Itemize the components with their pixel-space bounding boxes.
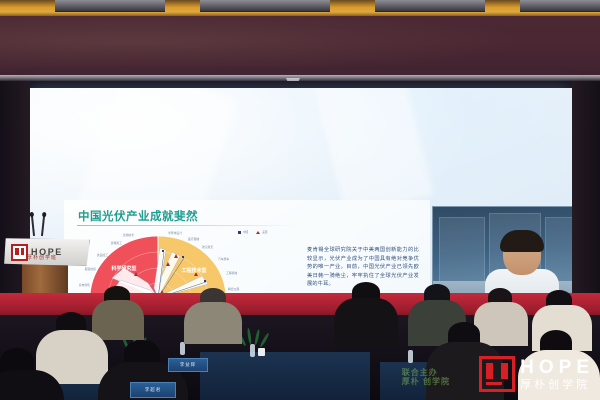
tea-cup [258,348,265,356]
radar-chart: 科学研究型 工程技术型 用户中心型 效率驱动型 生物技术 半导体设计 医疗器械 … [76,228,296,294]
head-table [200,352,370,400]
triangle-marker-icon [256,231,260,234]
speaker-hair [500,230,544,252]
slide-title: 中国光伏产业成就斐然 [78,208,198,224]
svg-text:建筑施工: 建筑施工 [111,241,122,245]
watermark-text: HOPE 厚朴创学院 [520,358,594,391]
watermark-brand-cn: 厚朴创学院 [520,380,594,391]
seal-bar [486,382,502,385]
svg-text:生物技术: 生物技术 [123,233,134,237]
audience-body [334,298,398,348]
audience-body [92,300,144,340]
svg-text:工程机械: 工程机械 [226,271,237,275]
square-marker-icon [238,231,241,234]
sponsor-ghost-text: 联合主办厚朴 创学院 [402,368,450,386]
quadrant-label: 工程技术型 [181,267,206,274]
podium-brand-cn: 厚朴创学班 [27,254,57,261]
watermark-brand-en: HOPE [520,358,594,377]
quadrant-label: 科学研究型 [110,265,136,272]
name-placard: 李益辉 [168,358,208,372]
svg-text:汽车整车: 汽车整车 [218,257,229,261]
video-feed-panel: 刘汉元 十一届全国政协常委 全国人大代表 通威集团董事局主席 [432,206,573,294]
projection-screen: 中国光伏产业成就斐然 [28,88,573,294]
svg-text:食品加工: 食品加工 [97,253,108,257]
podium-front-panel: HOPE 厚朴创学班 [4,238,90,266]
legend-item-cn: 中国 [238,230,248,234]
presentation-slide: 中国光伏产业成就斐然 [64,200,430,294]
right-side-wall [572,81,600,321]
hope-seal-icon [11,244,28,261]
legend-item-us: 美国 [256,230,267,234]
ceiling-panel [200,0,330,12]
placard-name: 李益辉 [180,362,196,368]
ceiling-panel [375,0,485,12]
video-speaker-figure [485,233,559,294]
slide-title-underline [77,225,297,226]
placard-name: 李超君 [145,387,161,393]
chart-legend: 中国 美国 [238,230,267,234]
wall-light-sheen [0,16,600,80]
svg-text:医疗器械: 医疗器械 [188,237,199,241]
audience-body [474,302,528,346]
name-placard: 李超君 [130,382,176,398]
hope-seal-icon [479,356,515,392]
svg-text:精密仪器: 精密仪器 [228,287,239,291]
conference-hall-scene: 中国光伏产业成就斐然 [0,0,600,400]
water-bottle [250,344,255,357]
legend-label: 中国 [243,230,248,234]
svg-text:半导体设计: 半导体设计 [168,231,182,235]
ceiling-panel [520,0,600,12]
svg-text:航空航天: 航空航天 [202,245,213,249]
ceiling-panel [55,0,165,12]
radar-chart-svg: 科学研究型 工程技术型 用户中心型 效率驱动型 生物技术 半导体设计 医疗器械 … [76,228,296,294]
legend-label: 美国 [262,230,267,234]
hope-watermark: HOPE 厚朴创学院 [479,356,594,392]
water-bottle [408,350,413,363]
audience-body [184,302,242,344]
